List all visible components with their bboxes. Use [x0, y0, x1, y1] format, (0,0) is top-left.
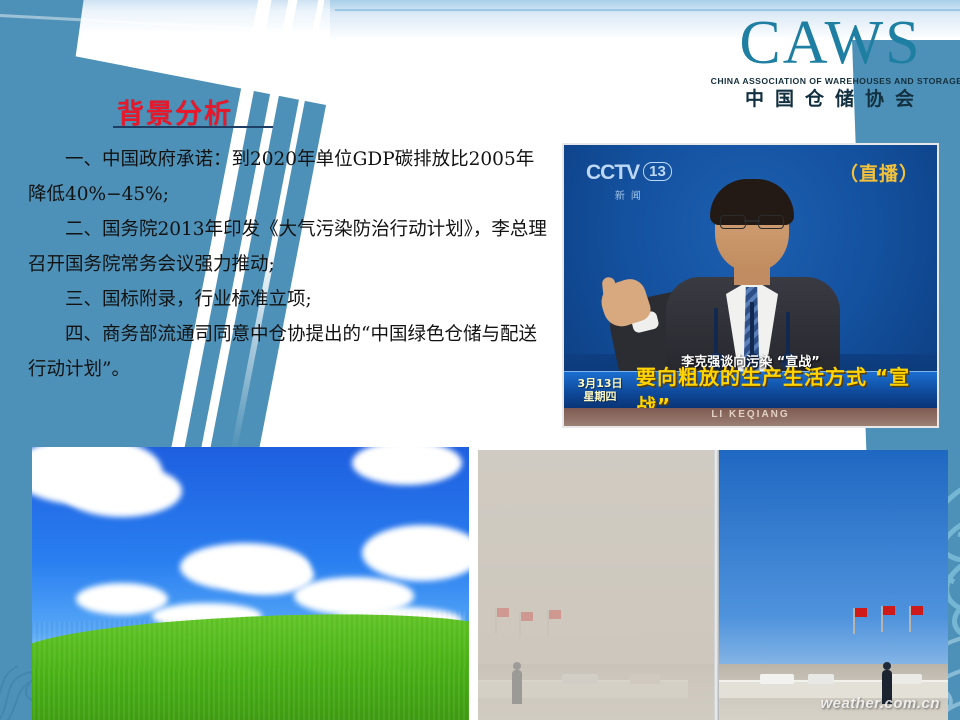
- tiananmen-smog-comparison-image: 中华人民共和国万岁 世界人民大团结万岁: [478, 450, 948, 720]
- logo-acronym: CAWS: [713, 14, 948, 73]
- vehicle: [890, 674, 922, 684]
- body-paragraph-1: 一、中国政府承诺：到2020年单位GDP碳排放比2005年降低40%−45%;: [28, 142, 548, 212]
- title-underline: [113, 126, 273, 128]
- cctv-channel-sub: 新闻: [586, 187, 672, 202]
- grass-texture: [32, 609, 469, 720]
- flag: [854, 608, 867, 617]
- flagpole-divider: [714, 450, 719, 720]
- live-badge: （直播）: [839, 159, 919, 186]
- cloud: [62, 465, 182, 517]
- cctv-nameplate-bar: LI KEQIANG: [564, 408, 937, 426]
- blue-sky-grass-image: [32, 447, 469, 720]
- caws-logo: CAWS CHINA ASSOCIATION OF WAREHOUSES AND…: [713, 14, 948, 109]
- flag: [882, 606, 895, 615]
- cctv-channel-name: CCTV: [586, 161, 639, 184]
- smog-overlay: [478, 450, 718, 720]
- vehicle: [760, 674, 794, 684]
- body-paragraph-4: 四、商务部流通司同意中仓协提出的“中国绿色仓储与配送行动计划”。: [28, 317, 548, 387]
- grass-field: [32, 609, 469, 720]
- cctv-lower-third: 3月13日 星期四 要向粗放的生产生活方式 “宣战”: [564, 371, 937, 408]
- slide-canvas: CAWS CHINA ASSOCIATION OF WAREHOUSES AND…: [0, 0, 960, 720]
- body-text-block: 一、中国政府承诺：到2020年单位GDP碳排放比2005年降低40%−45%; …: [28, 142, 548, 387]
- body-paragraph-3: 三、国标附录，行业标准立项;: [28, 282, 548, 317]
- flag: [910, 606, 923, 615]
- image-watermark: weather.com.cn: [820, 695, 940, 712]
- cctv-channel-logo: CCTV13 新闻: [586, 161, 672, 202]
- cctv-date-chip: 3月13日 星期四: [564, 377, 636, 403]
- cctv-news-image: CCTV13 新闻 （直播） 李克强谈向污染 “宣战” 3月13日 星期四 要向…: [562, 143, 939, 428]
- glasses-icon: [720, 215, 784, 227]
- cloud: [76, 583, 168, 615]
- cctv-channel-number: 13: [643, 162, 672, 181]
- vehicle: [808, 674, 834, 684]
- cctv-weekday: 星期四: [564, 390, 636, 403]
- logo-english-name: CHINA ASSOCIATION OF WAREHOUSES AND STOR…: [711, 77, 951, 86]
- cctv-nameplate: LI KEQIANG: [564, 408, 937, 422]
- cctv-date: 3月13日: [564, 377, 636, 390]
- body-paragraph-2: 二、国务院2013年印发《大气污染防治行动计划》，李总理召开国务院常务会议强力推…: [28, 212, 548, 282]
- logo-chinese-name: 中国仓储协会: [713, 90, 948, 109]
